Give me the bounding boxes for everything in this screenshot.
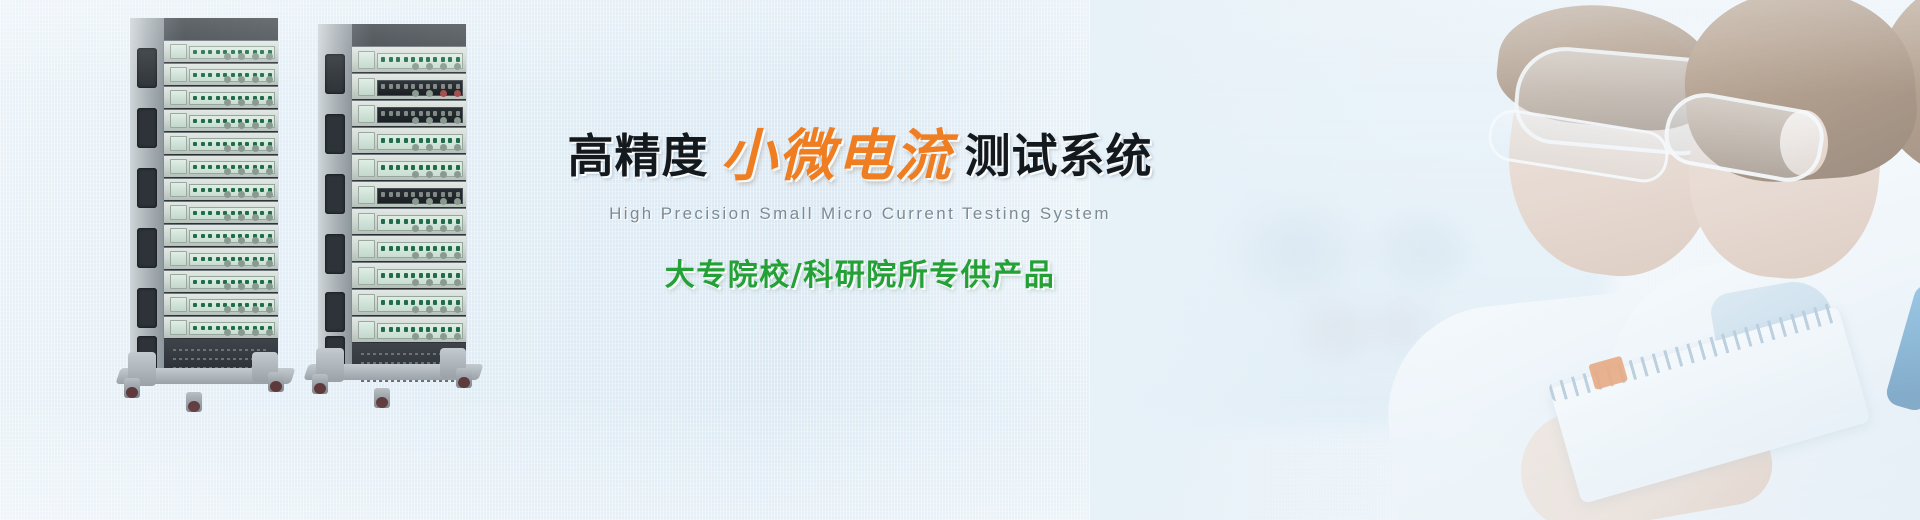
unit-knob — [412, 90, 419, 97]
rack-unit — [352, 262, 466, 288]
unit-knob-row — [221, 286, 273, 291]
unit-led — [433, 192, 437, 197]
unit-knob-row — [221, 217, 273, 222]
banner-subtitle-english: High Precision Small Micro Current Testi… — [520, 204, 1200, 224]
unit-led — [389, 111, 393, 116]
unit-led — [389, 219, 393, 224]
unit-led — [216, 119, 220, 123]
unit-led — [245, 257, 249, 261]
unit-led — [201, 73, 205, 77]
unit-led — [419, 57, 423, 62]
unit-knob — [252, 306, 259, 313]
unit-led — [404, 273, 408, 278]
unit-knob — [426, 333, 433, 340]
unit-led — [245, 326, 249, 330]
unit-knob — [412, 252, 419, 259]
unit-led — [201, 119, 205, 123]
unit-led — [208, 142, 212, 146]
rack-unit — [164, 109, 278, 131]
rack-left-side-frame — [130, 18, 164, 370]
unit-knob — [238, 283, 245, 290]
unit-knob-row — [409, 65, 461, 71]
unit-led — [193, 211, 197, 215]
unit-display — [170, 182, 187, 197]
rack-caster — [268, 372, 284, 392]
unit-led — [201, 165, 205, 169]
unit-led — [448, 84, 452, 89]
rack-unit — [164, 270, 278, 292]
unit-knob — [266, 260, 273, 267]
rack-frame-slot — [137, 228, 157, 268]
unit-led — [389, 273, 393, 278]
rack-right-side-frame — [318, 24, 352, 370]
unit-knob — [412, 198, 419, 205]
unit-led — [201, 96, 205, 100]
unit-led — [448, 300, 452, 305]
unit-display — [358, 321, 375, 339]
unit-led — [231, 96, 235, 100]
unit-led — [396, 219, 400, 224]
unit-led — [231, 234, 235, 238]
rack-caster — [374, 388, 390, 408]
unit-knob — [224, 214, 231, 221]
unit-led — [411, 84, 415, 89]
unit-led — [441, 219, 445, 224]
unit-knob-row — [409, 281, 461, 287]
unit-led — [201, 142, 205, 146]
unit-knob — [252, 168, 259, 175]
unit-led — [245, 280, 249, 284]
unit-knob — [252, 283, 259, 290]
rack-unit — [164, 316, 278, 338]
unit-knob-row — [221, 56, 273, 61]
unit-knob — [454, 198, 461, 205]
unit-led — [193, 257, 197, 261]
unit-led — [411, 246, 415, 251]
unit-led — [260, 303, 264, 307]
unit-led — [381, 327, 385, 332]
unit-led — [456, 138, 460, 143]
unit-knob-row — [221, 194, 273, 199]
unit-led — [404, 57, 408, 62]
rack-frame-slot — [325, 114, 345, 154]
unit-led — [419, 111, 423, 116]
rack-frame-slot — [137, 288, 157, 328]
rack-unit — [352, 316, 466, 342]
title-prefix: 高精度 — [568, 129, 709, 183]
unit-led — [396, 57, 400, 62]
unit-led — [441, 57, 445, 62]
rack-unit — [164, 293, 278, 315]
unit-led — [193, 303, 197, 307]
rack-frame-slot — [137, 168, 157, 208]
equipment-rack-left: LONB — [130, 18, 278, 370]
unit-led — [411, 273, 415, 278]
unit-led — [433, 273, 437, 278]
unit-knob — [252, 122, 259, 129]
unit-led — [448, 219, 452, 224]
unit-led — [381, 111, 385, 116]
unit-led — [448, 57, 452, 62]
unit-led — [456, 300, 460, 305]
unit-knob — [238, 99, 245, 106]
unit-knob — [266, 214, 273, 221]
unit-knob — [426, 63, 433, 70]
unit-led — [245, 211, 249, 215]
unit-led — [231, 257, 235, 261]
unit-led — [396, 192, 400, 197]
unit-led — [231, 326, 235, 330]
unit-led — [411, 111, 415, 116]
unit-led — [231, 211, 235, 215]
unit-led — [456, 192, 460, 197]
unit-knob — [412, 225, 419, 232]
unit-display — [358, 78, 375, 96]
unit-led — [433, 84, 437, 89]
unit-knob — [266, 283, 273, 290]
unit-knob — [252, 214, 259, 221]
unit-display — [358, 132, 375, 150]
unit-led — [456, 57, 460, 62]
unit-led — [216, 326, 220, 330]
unit-led — [208, 165, 212, 169]
rack-caster — [186, 392, 202, 412]
unit-knob-row — [221, 332, 273, 337]
unit-knob — [224, 191, 231, 198]
unit-knob-row — [409, 146, 461, 152]
unit-led — [216, 50, 220, 54]
unit-led — [396, 273, 400, 278]
unit-led — [396, 138, 400, 143]
unit-led — [456, 111, 460, 116]
unit-led — [201, 257, 205, 261]
unit-knob-row — [221, 79, 273, 84]
unit-led — [404, 219, 408, 224]
unit-led — [201, 303, 205, 307]
unit-knob — [454, 306, 461, 313]
unit-led — [426, 327, 430, 332]
unit-display — [170, 113, 187, 128]
unit-led — [448, 111, 452, 116]
unit-knob — [426, 117, 433, 124]
unit-led — [216, 280, 220, 284]
unit-led — [260, 188, 264, 192]
unit-led — [419, 327, 423, 332]
unit-led — [216, 211, 220, 215]
unit-knob — [426, 198, 433, 205]
unit-knob — [440, 171, 447, 178]
unit-led — [426, 273, 430, 278]
unit-led — [389, 57, 393, 62]
rack-unit — [164, 132, 278, 154]
unit-led — [231, 303, 235, 307]
unit-led — [419, 246, 423, 251]
unit-led — [260, 96, 264, 100]
unit-led — [456, 273, 460, 278]
rack-unit — [352, 154, 466, 180]
unit-knob — [266, 306, 273, 313]
unit-knob-row — [409, 308, 461, 314]
unit-knob — [440, 333, 447, 340]
unit-knob-row — [221, 309, 273, 314]
unit-display — [358, 267, 375, 285]
unit-led — [411, 327, 415, 332]
unit-knob — [454, 171, 461, 178]
unit-led — [456, 246, 460, 251]
unit-knob-row — [409, 335, 461, 341]
unit-display — [358, 240, 375, 258]
unit-led — [419, 219, 423, 224]
unit-led — [433, 300, 437, 305]
unit-led — [389, 84, 393, 89]
rack-right-body — [352, 24, 466, 370]
unit-led — [193, 119, 197, 123]
unit-led — [426, 111, 430, 116]
unit-led — [426, 57, 430, 62]
unit-knob — [426, 144, 433, 151]
unit-knob — [454, 144, 461, 151]
unit-led — [208, 257, 212, 261]
unit-knob — [440, 198, 447, 205]
unit-knob — [252, 191, 259, 198]
unit-led — [404, 111, 408, 116]
rack-unit — [164, 224, 278, 246]
unit-knob — [454, 63, 461, 70]
unit-led — [433, 111, 437, 116]
rack-unit — [352, 289, 466, 315]
unit-led — [381, 273, 385, 278]
unit-led — [433, 219, 437, 224]
unit-led — [426, 84, 430, 89]
unit-knob — [238, 306, 245, 313]
unit-led — [404, 300, 408, 305]
unit-display — [358, 105, 375, 123]
unit-knob — [412, 63, 419, 70]
unit-led — [441, 300, 445, 305]
unit-knob — [224, 306, 231, 313]
unit-knob — [454, 225, 461, 232]
unit-knob — [426, 171, 433, 178]
unit-led — [419, 84, 423, 89]
unit-led — [260, 119, 264, 123]
unit-led — [411, 165, 415, 170]
unit-knob — [238, 191, 245, 198]
rack-unit — [164, 40, 278, 62]
unit-display — [170, 67, 187, 82]
unit-led — [201, 280, 205, 284]
unit-led — [193, 326, 197, 330]
unit-led — [426, 192, 430, 197]
unit-led — [231, 280, 235, 284]
unit-led — [448, 138, 452, 143]
unit-led — [389, 246, 393, 251]
unit-knob — [238, 329, 245, 336]
unit-knob — [238, 53, 245, 60]
unit-led — [193, 96, 197, 100]
unit-led — [396, 111, 400, 116]
unit-led — [231, 142, 235, 146]
unit-knob — [238, 237, 245, 244]
unit-led — [433, 165, 437, 170]
unit-led — [208, 326, 212, 330]
unit-led — [231, 73, 235, 77]
rack-unit — [352, 46, 466, 72]
unit-led — [193, 165, 197, 169]
unit-led — [389, 300, 393, 305]
unit-display — [170, 274, 187, 289]
product-banner: LONB LONB — [0, 0, 1920, 520]
unit-knob — [252, 329, 259, 336]
unit-led — [426, 165, 430, 170]
unit-led — [404, 84, 408, 89]
unit-knob — [224, 237, 231, 244]
unit-display — [170, 297, 187, 312]
unit-knob — [266, 99, 273, 106]
unit-knob — [440, 117, 447, 124]
unit-led — [245, 119, 249, 123]
unit-led — [433, 138, 437, 143]
unit-knob — [440, 279, 447, 286]
unit-led — [231, 50, 235, 54]
unit-led — [411, 57, 415, 62]
unit-knob — [238, 145, 245, 152]
unit-knob — [224, 168, 231, 175]
unit-knob — [440, 90, 447, 97]
unit-led — [381, 84, 385, 89]
unit-led — [193, 234, 197, 238]
unit-knob — [224, 76, 231, 83]
banner-copy: 高精度小微电流测试系统 High Precision Small Micro C… — [520, 128, 1200, 294]
rack-vent — [361, 380, 457, 382]
unit-led — [193, 142, 197, 146]
unit-knob — [412, 144, 419, 151]
unit-led — [448, 273, 452, 278]
unit-display — [170, 44, 187, 59]
unit-led — [245, 73, 249, 77]
unit-knob — [440, 144, 447, 151]
unit-led — [381, 192, 385, 197]
unit-led — [201, 234, 205, 238]
unit-led — [245, 303, 249, 307]
unit-display — [358, 51, 375, 69]
unit-led — [404, 192, 408, 197]
rack-vent — [173, 349, 269, 351]
unit-led — [441, 84, 445, 89]
unit-display — [358, 186, 375, 204]
unit-knob — [266, 122, 273, 129]
unit-knob — [252, 53, 259, 60]
unit-led — [381, 219, 385, 224]
unit-knob — [426, 252, 433, 259]
unit-led — [245, 188, 249, 192]
unit-knob — [224, 329, 231, 336]
unit-knob — [266, 145, 273, 152]
rack-unit — [352, 208, 466, 234]
unit-knob — [238, 76, 245, 83]
unit-led — [448, 165, 452, 170]
unit-led — [456, 327, 460, 332]
unit-knob-row — [409, 227, 461, 233]
unit-led — [426, 219, 430, 224]
unit-led — [381, 57, 385, 62]
unit-led — [389, 165, 393, 170]
unit-led — [448, 192, 452, 197]
rack-frame-slot — [325, 54, 345, 94]
unit-led — [441, 327, 445, 332]
unit-led — [381, 138, 385, 143]
rack-unit — [164, 201, 278, 223]
unit-knob — [266, 53, 273, 60]
unit-led — [216, 96, 220, 100]
rack-caster — [456, 368, 472, 388]
unit-led — [260, 257, 264, 261]
rack-unit — [164, 178, 278, 200]
unit-led — [433, 327, 437, 332]
unit-led — [201, 188, 205, 192]
rack-frame-slot — [137, 48, 157, 88]
unit-led — [208, 188, 212, 192]
title-highlight: 小微电流 — [721, 123, 953, 189]
unit-led — [396, 165, 400, 170]
unit-led — [245, 50, 249, 54]
unit-led — [381, 165, 385, 170]
unit-led — [441, 165, 445, 170]
unit-knob — [266, 237, 273, 244]
unit-led — [389, 138, 393, 143]
unit-knob — [224, 99, 231, 106]
rack-unit — [352, 100, 466, 126]
rack-caster — [124, 378, 140, 398]
unit-knob-row — [409, 173, 461, 179]
unit-knob — [440, 63, 447, 70]
unit-knob — [412, 279, 419, 286]
unit-knob-row — [409, 119, 461, 125]
unit-led — [419, 300, 423, 305]
unit-display — [170, 159, 187, 174]
unit-knob — [440, 225, 447, 232]
unit-knob — [252, 76, 259, 83]
unit-knob — [266, 76, 273, 83]
unit-knob — [224, 145, 231, 152]
unit-led — [245, 234, 249, 238]
rack-caster — [312, 374, 328, 394]
unit-led — [441, 138, 445, 143]
unit-led — [208, 73, 212, 77]
unit-led — [433, 246, 437, 251]
unit-display — [170, 251, 187, 266]
unit-display — [170, 320, 187, 335]
banner-tagline: 大专院校/科研院所专供产品 — [520, 250, 1200, 294]
unit-led — [404, 327, 408, 332]
unit-knob — [224, 53, 231, 60]
unit-led — [201, 50, 205, 54]
unit-led — [216, 303, 220, 307]
unit-led — [396, 327, 400, 332]
unit-knob-row — [221, 171, 273, 176]
rack-frame-slot — [325, 292, 345, 332]
unit-knob — [252, 237, 259, 244]
unit-knob — [426, 225, 433, 232]
unit-knob — [238, 168, 245, 175]
unit-knob — [266, 191, 273, 198]
unit-knob — [454, 333, 461, 340]
unit-led — [260, 165, 264, 169]
unit-led — [396, 84, 400, 89]
unit-knob — [426, 90, 433, 97]
unit-led — [216, 165, 220, 169]
unit-led — [260, 73, 264, 77]
rack-unit — [352, 127, 466, 153]
